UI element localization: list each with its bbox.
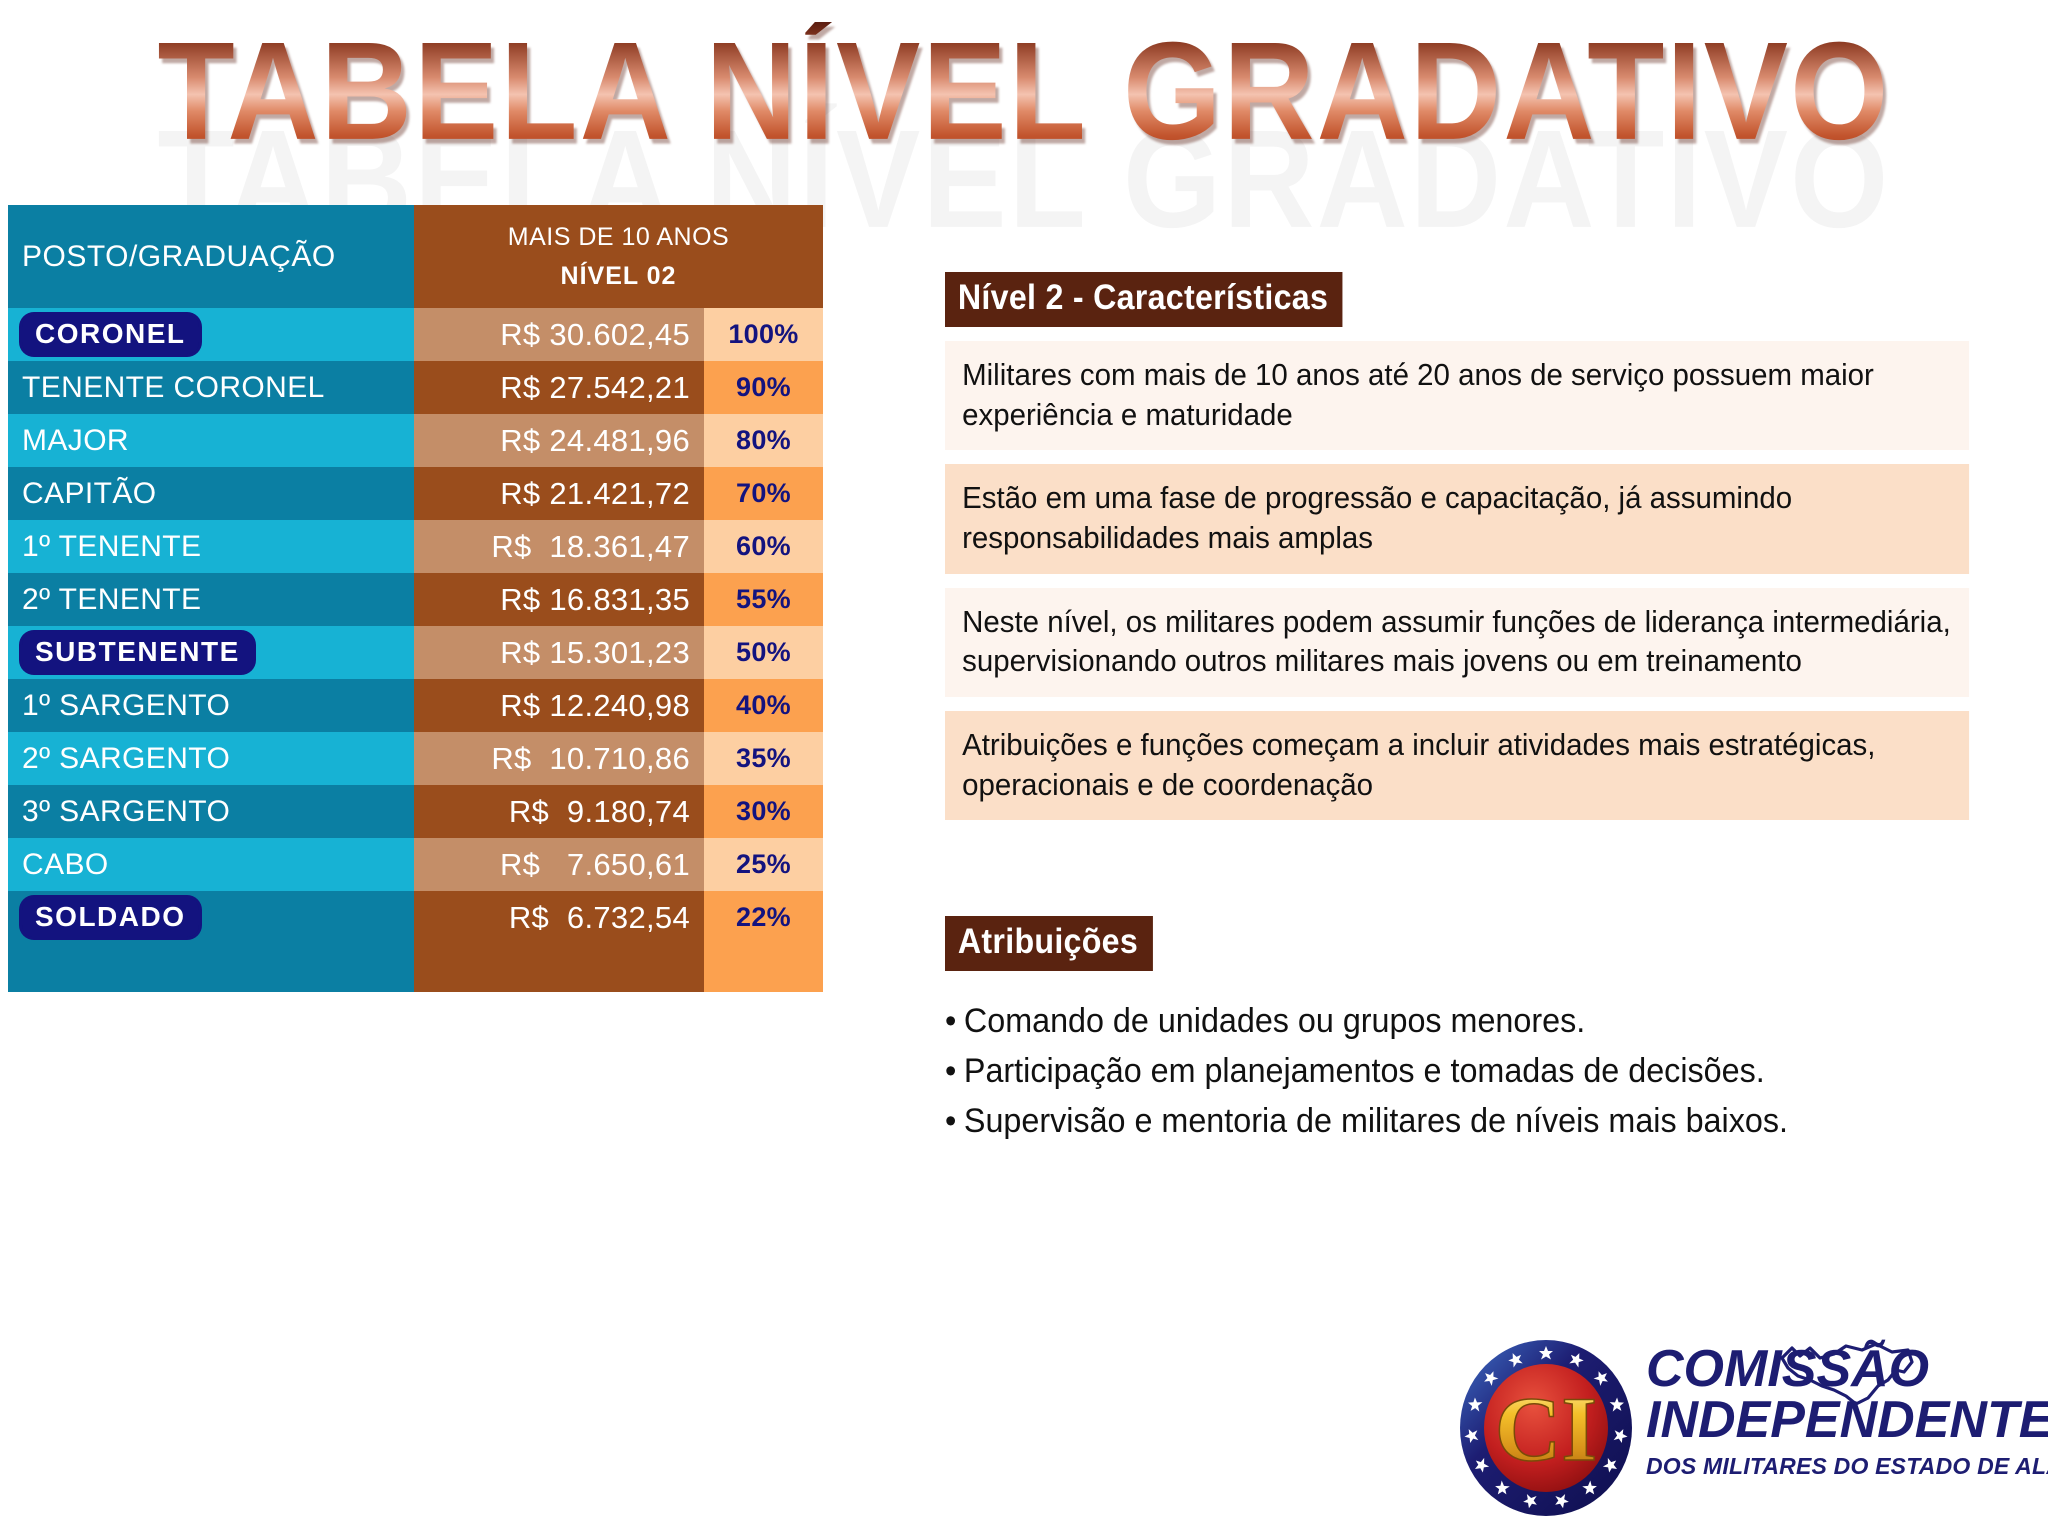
logo-line-3: DOS MILITARES DO ESTADO DE ALAGOAS (1646, 1453, 2028, 1480)
table-cell-rank: CABO (8, 838, 414, 891)
table-cell-value: R$ 7.650,61 (414, 838, 704, 891)
characteristic-item: Atribuições e funções começam a incluir … (945, 711, 1969, 820)
logo-monogram-text: CI (1495, 1378, 1597, 1480)
table-row: CABOR$ 7.650,6125% (8, 838, 823, 891)
table-cell-value: R$ 9.180,74 (414, 785, 704, 838)
attribution-text: Supervisão e mentoria de militares de ní… (964, 1102, 1788, 1140)
table-row: MAJORR$ 24.481,9680% (8, 414, 823, 467)
table-cell-rank: 1º SARGENTO (8, 679, 414, 732)
characteristic-item: Estão em uma fase de progressão e capaci… (945, 464, 1969, 573)
rank-salary-table: POSTO/GRADUAÇÃO MAIS DE 10 ANOS NÍVEL 02… (8, 205, 823, 992)
table-cell-percent: 55% (704, 573, 823, 626)
attributions-list: •Comando de unidades ou grupos menores.•… (945, 997, 2023, 1146)
table-cell-rank: CAPITÃO (8, 467, 414, 520)
table-cell-percent: 70% (704, 467, 823, 520)
table-cell-value: R$ 6.732,54 (414, 891, 704, 944)
table-cell-value: R$ 18.361,47 (414, 520, 704, 573)
attribution-text: Participação em planejamentos e tomadas … (964, 1052, 1765, 1090)
attributions-heading: Atribuições (945, 916, 1153, 971)
table-cell-value: R$ 12.240,98 (414, 679, 704, 732)
table-cell-rank: MAJOR (8, 414, 414, 467)
table-cell-value: R$ 21.421,72 (414, 467, 704, 520)
table-header-value: MAIS DE 10 ANOS NÍVEL 02 (414, 205, 823, 308)
alagoas-map-icon (1776, 1336, 1916, 1415)
characteristics-list: Militares com mais de 10 anos até 20 ano… (945, 341, 2023, 820)
table-cell-rank: 1º TENENTE (8, 520, 414, 573)
characteristic-item: Militares com mais de 10 anos até 20 ano… (945, 341, 1969, 450)
table-row: TENENTE CORONELR$ 27.542,2190% (8, 361, 823, 414)
characteristic-item: Neste nível, os militares podem assumir … (945, 588, 1969, 697)
table-cell-rank: TENENTE CORONEL (8, 361, 414, 414)
characteristics-heading: Nível 2 - Características (945, 272, 1343, 327)
page-title: TABELA NÍVEL GRADATIVO (0, 22, 2048, 161)
table-cell-percent: 22% (704, 891, 823, 944)
attribution-item: •Comando de unidades ou grupos menores. (945, 997, 1969, 1047)
table-row: 1º TENENTER$ 18.361,4760% (8, 520, 823, 573)
table-cell-value: R$ 24.481,96 (414, 414, 704, 467)
table-cell-rank: 2º TENENTE (8, 573, 414, 626)
table-cell-value: R$ 15.301,23 (414, 626, 704, 679)
table-cell-rank: 3º SARGENTO (8, 785, 414, 838)
table-cell-percent: 60% (704, 520, 823, 573)
bullet-icon: • (945, 1047, 956, 1097)
rank-highlight-badge: SOLDADO (22, 898, 199, 937)
table-cell-percent: 90% (704, 361, 823, 414)
bullet-icon: • (945, 1097, 956, 1147)
bullet-icon: • (945, 997, 956, 1047)
attribution-item: •Supervisão e mentoria de militares de n… (945, 1097, 1969, 1147)
table-cell-value: R$ 10.710,86 (414, 732, 704, 785)
table-cell-percent: 40% (704, 679, 823, 732)
table-row: CORONELR$ 30.602,45100% (8, 308, 823, 361)
table-cell-percent: 30% (704, 785, 823, 838)
table-header-value-line2: NÍVEL 02 (561, 262, 677, 291)
table-cell-value: R$ 30.602,45 (414, 308, 704, 361)
logo-badge-icon: CI (1458, 1338, 1634, 1518)
table-cell-value: R$ 27.542,21 (414, 361, 704, 414)
table-cell-rank: CORONEL (8, 308, 414, 361)
rank-highlight-badge: SUBTENENTE (22, 633, 253, 672)
table-header-row: POSTO/GRADUAÇÃO MAIS DE 10 ANOS NÍVEL 02 (8, 205, 823, 308)
table-row: SOLDADOR$ 6.732,5422% (8, 891, 823, 944)
table-cell-percent: 50% (704, 626, 823, 679)
table-body: CORONELR$ 30.602,45100%TENENTE CORONELR$… (8, 308, 823, 944)
table-row: SUBTENENTER$ 15.301,2350% (8, 626, 823, 679)
table-header-value-line1: MAIS DE 10 ANOS (508, 223, 729, 252)
table-row: 2º SARGENTOR$ 10.710,8635% (8, 732, 823, 785)
attribution-item: •Participação em planejamentos e tomadas… (945, 1047, 1969, 1097)
table-row: 1º SARGENTOR$ 12.240,9840% (8, 679, 823, 732)
footer-percent-filler (704, 944, 823, 992)
table-cell-value: R$ 16.831,35 (414, 573, 704, 626)
footer-value-filler (414, 944, 704, 992)
table-cell-rank: 2º SARGENTO (8, 732, 414, 785)
right-panel: Nível 2 - Características Militares com … (945, 272, 2023, 1146)
table-row: 3º SARGENTOR$ 9.180,7430% (8, 785, 823, 838)
table-cell-percent: 100% (704, 308, 823, 361)
table-row: CAPITÃOR$ 21.421,7270% (8, 467, 823, 520)
table-cell-percent: 80% (704, 414, 823, 467)
organization-logo: CI COMISSÃO INDEPENDENTE DOS MILITARES D… (1458, 1330, 2028, 1525)
table-header-rank: POSTO/GRADUAÇÃO (8, 205, 414, 308)
table-cell-rank: SOLDADO (8, 891, 414, 944)
table-row: 2º TENENTER$ 16.831,3555% (8, 573, 823, 626)
table-cell-percent: 25% (704, 838, 823, 891)
table-cell-rank: SUBTENENTE (8, 626, 414, 679)
attribution-text: Comando de unidades ou grupos menores. (964, 1002, 1585, 1040)
table-footer-filler (8, 944, 823, 992)
page-title-block: TABELA NÍVEL GRADATIVO TABELA NÍVEL GRAD… (0, 0, 2048, 200)
table-cell-percent: 35% (704, 732, 823, 785)
rank-highlight-badge: CORONEL (22, 315, 199, 354)
footer-rank-filler (8, 944, 414, 992)
